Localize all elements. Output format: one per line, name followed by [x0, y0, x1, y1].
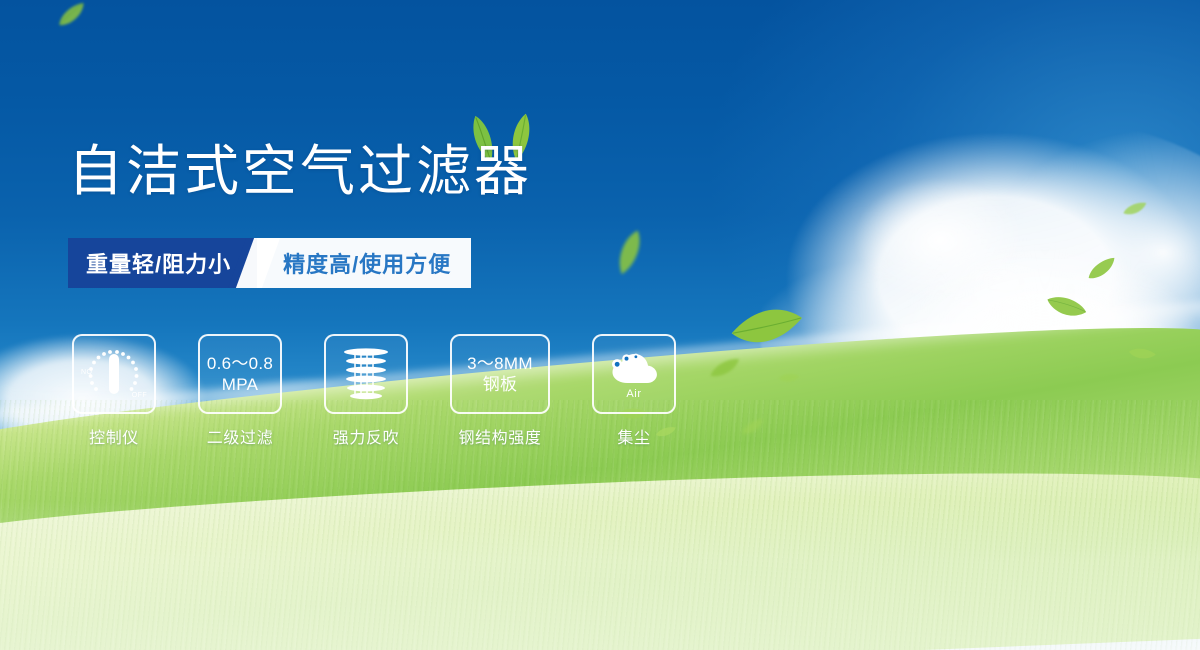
feature-icon-box: 0.6～0.8 MPA: [198, 334, 282, 414]
feature-icon-box: NO OFF: [72, 334, 156, 414]
feature-label: 控制仪: [89, 424, 139, 448]
pressure-line-1: 0.6～0.8: [207, 353, 273, 374]
feature-item-control-unit[interactable]: NO OFF 控制仪: [72, 334, 156, 448]
pressure-text-icon: 0.6～0.8 MPA: [207, 353, 273, 395]
subtitle-right-text: 精度高/使用方便: [283, 247, 451, 279]
filter-coil-shape: [339, 345, 393, 403]
feature-item-two-stage-filter[interactable]: 0.6～0.8 MPA 二级过滤: [198, 334, 282, 448]
steel-line-1: 3～8MM: [467, 353, 533, 374]
page-title: 自洁式空气过滤器: [68, 143, 532, 201]
air-cloud-icon: Air: [603, 345, 665, 403]
subtitle-left-text: 重量轻/阻力小: [86, 247, 231, 279]
steel-line-2: 钢板: [467, 374, 533, 395]
dial-label-off: OFF: [132, 392, 147, 399]
feature-label: 二级过滤: [207, 424, 273, 448]
banner-content: 自洁式空气过滤器 重量轻/阻力小 精度高/使用方便: [0, 0, 1200, 650]
subtitle-bar: 重量轻/阻力小 精度高/使用方便: [68, 238, 471, 288]
control-dial-icon: NO OFF: [83, 345, 145, 403]
feature-item-dust-collection[interactable]: Air 集尘: [592, 334, 676, 448]
dial-switch-handle: [109, 354, 119, 394]
product-banner: 自洁式空气过滤器 重量轻/阻力小 精度高/使用方便: [0, 0, 1200, 650]
dial-label-on: NO: [81, 369, 92, 376]
subtitle-left-panel: 重量轻/阻力小: [68, 238, 251, 288]
feature-icon-box: Air: [592, 334, 676, 414]
feature-label: 强力反吹: [333, 424, 399, 448]
feature-label: 钢结构强度: [458, 424, 541, 448]
steel-plate-text-icon: 3～8MM 钢板: [467, 353, 533, 395]
air-label: Air: [626, 388, 641, 400]
feature-item-strong-backflush[interactable]: 强力反吹: [324, 334, 408, 448]
feature-icon-box: [324, 334, 408, 414]
subtitle-right-panel: 精度高/使用方便: [257, 238, 471, 288]
pressure-line-2: MPA: [207, 374, 273, 395]
feature-icon-box: 3～8MM 钢板: [450, 334, 550, 414]
feature-list: NO OFF 控制仪 0.6～0.8 MPA 二级过滤: [72, 334, 676, 448]
feature-item-steel-strength[interactable]: 3～8MM 钢板 钢结构强度: [450, 334, 550, 448]
feature-label: 集尘: [617, 424, 650, 448]
cloud-shape: [605, 349, 663, 387]
filter-coil-icon: [339, 345, 393, 403]
